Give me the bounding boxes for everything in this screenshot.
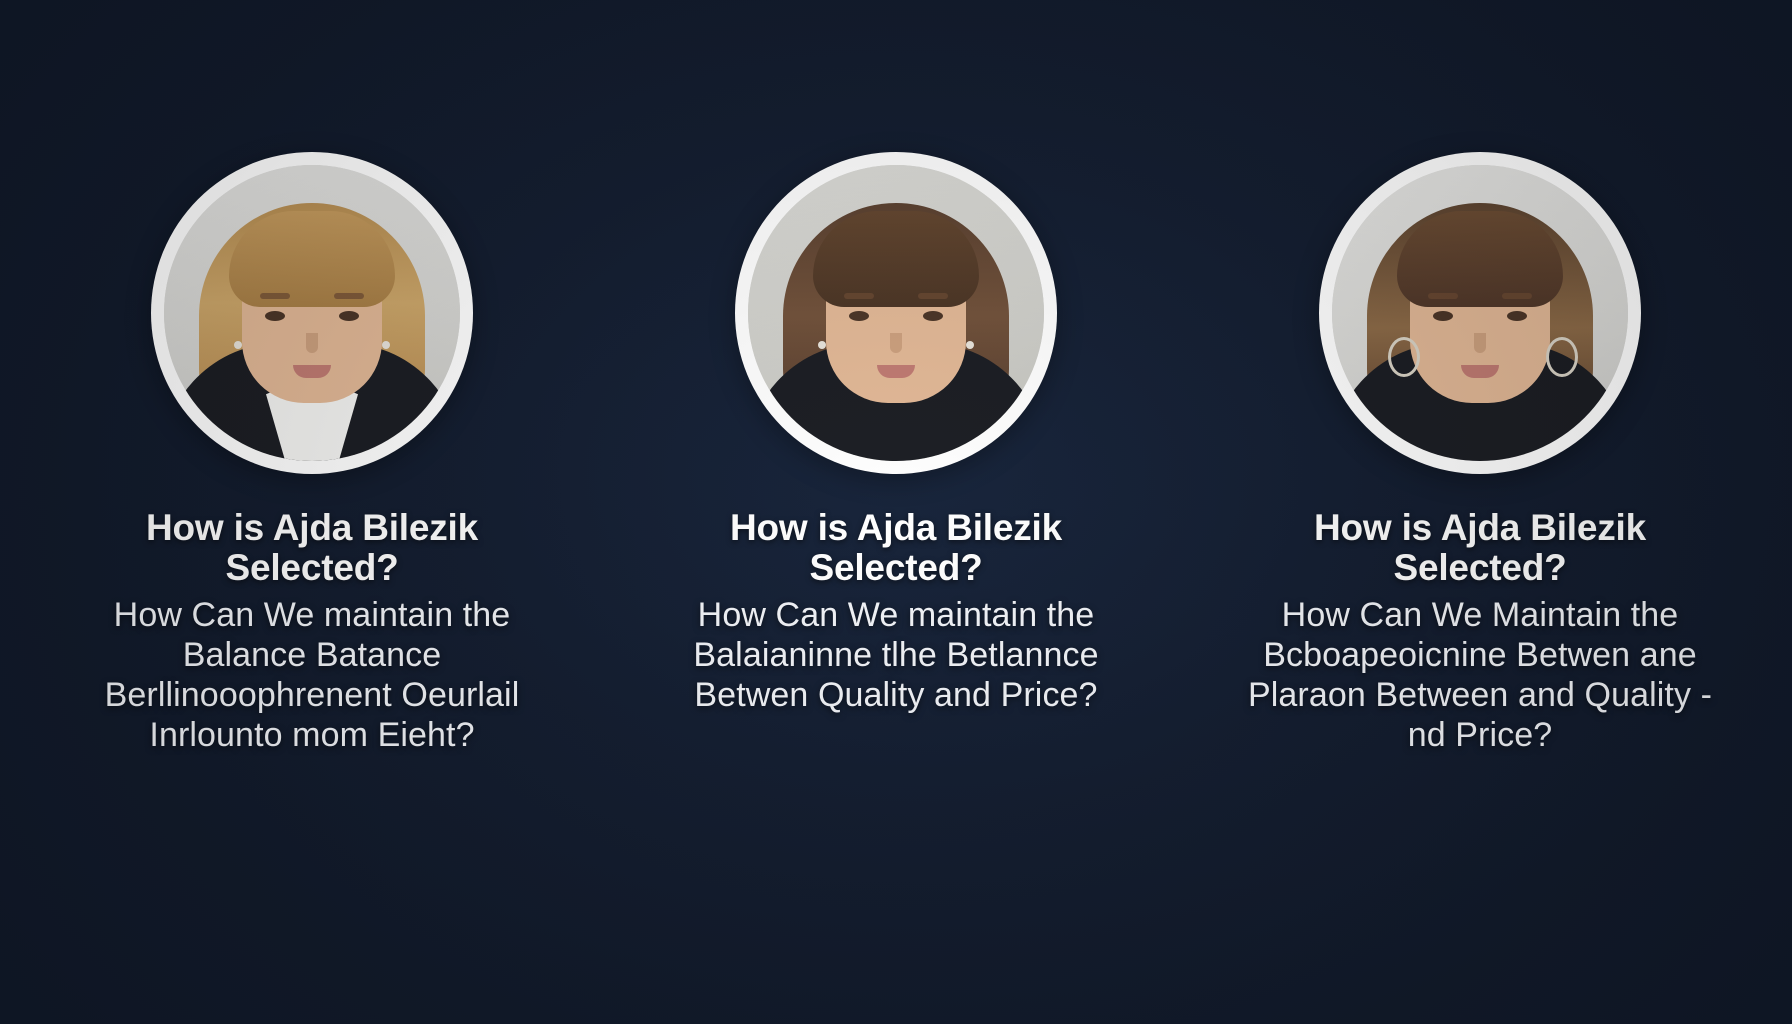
eye-left: [1433, 311, 1453, 321]
eye-right: [339, 311, 359, 321]
hoop-earring-left-icon: [1388, 337, 1420, 377]
eyebrow-right: [918, 293, 948, 299]
eyebrow-left: [844, 293, 874, 299]
earring-right: [382, 341, 390, 349]
profile-card-1[interactable]: How is Ajda Bilezik Selected? How Can We…: [56, 0, 568, 755]
portrait-illustration-1: [164, 165, 460, 461]
card-subtext-3: How Can We Maintain the Bcboapeoicnine B…: [1224, 595, 1736, 755]
eye-left: [849, 311, 869, 321]
earring-right: [966, 341, 974, 349]
hair-front-icon: [1397, 211, 1563, 307]
portrait-illustration-3: [1332, 165, 1628, 461]
profile-card-3[interactable]: How is Ajda Bilezik Selected? How Can We…: [1224, 0, 1736, 755]
card-headline-2: How is Ajda Bilezik Selected?: [640, 508, 1152, 589]
earring-left: [234, 341, 242, 349]
hoop-earring-right-icon: [1546, 337, 1578, 377]
avatar-photo-3: [1332, 165, 1628, 461]
avatar-photo-1: [164, 165, 460, 461]
slide-canvas: How is Ajda Bilezik Selected? How Can We…: [0, 0, 1792, 1024]
avatar-ring-3[interactable]: [1319, 152, 1641, 474]
avatar-ring-2[interactable]: [735, 152, 1057, 474]
eyebrow-right: [1502, 293, 1532, 299]
nose-shape: [890, 333, 902, 353]
portrait-illustration-2: [748, 165, 1044, 461]
card-headline-1: How is Ajda Bilezik Selected?: [56, 508, 568, 589]
card-subtext-1: How Can We maintain the Balance Batance …: [56, 595, 568, 755]
card-text-1: How is Ajda Bilezik Selected? How Can We…: [56, 508, 568, 755]
card-subtext-2: How Can We maintain the Balaianinne tlhe…: [640, 595, 1152, 715]
eyebrow-left: [260, 293, 290, 299]
eyebrow-right: [334, 293, 364, 299]
eye-right: [1507, 311, 1527, 321]
profile-card-2[interactable]: How is Ajda Bilezik Selected? How Can We…: [640, 0, 1152, 715]
avatar-photo-2: [748, 165, 1044, 461]
eye-right: [923, 311, 943, 321]
avatar-ring-1[interactable]: [151, 152, 473, 474]
nose-shape: [306, 333, 318, 353]
card-headline-3: How is Ajda Bilezik Selected?: [1224, 508, 1736, 589]
card-text-3: How is Ajda Bilezik Selected? How Can We…: [1224, 508, 1736, 755]
eye-left: [265, 311, 285, 321]
earring-left: [818, 341, 826, 349]
hair-front-icon: [813, 211, 979, 307]
nose-shape: [1474, 333, 1486, 353]
eyebrow-left: [1428, 293, 1458, 299]
card-text-2: How is Ajda Bilezik Selected? How Can We…: [640, 508, 1152, 715]
hair-front-icon: [229, 211, 395, 307]
card-row: How is Ajda Bilezik Selected? How Can We…: [0, 0, 1792, 1024]
